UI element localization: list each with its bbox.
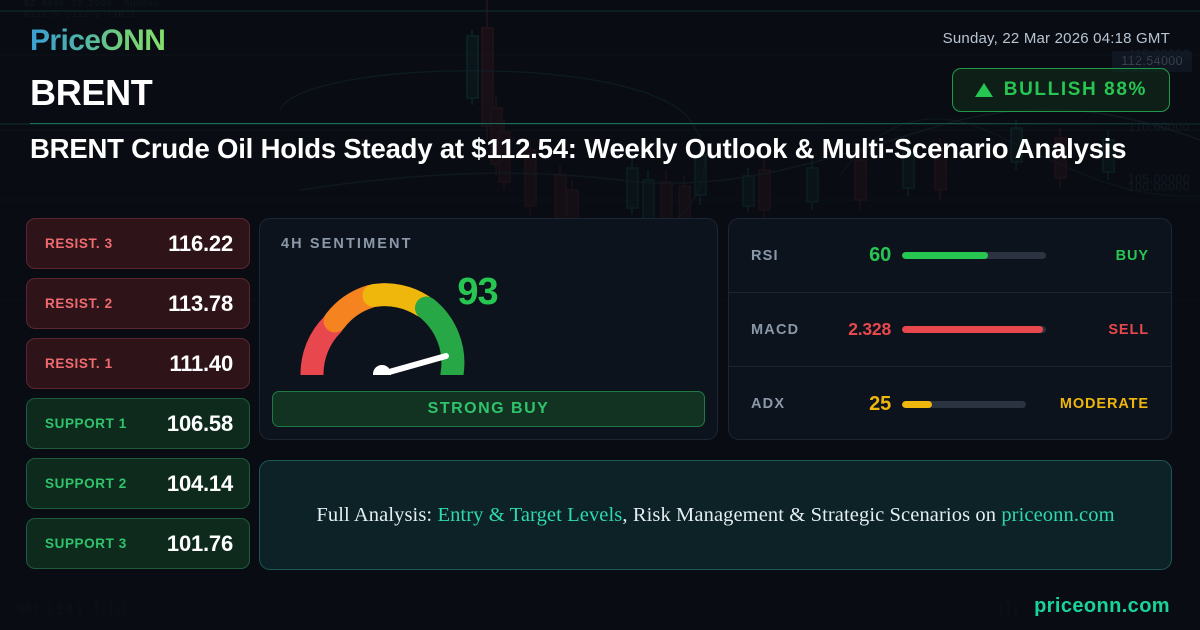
footer-brand: priceonn.com xyxy=(1034,595,1170,618)
gauge-arc-green xyxy=(427,308,453,374)
level-label: RESIST. 2 xyxy=(45,296,113,311)
level-row-support-2: SUPPORT 2 104.14 xyxy=(26,458,250,509)
header-divider xyxy=(30,123,1170,124)
level-value: 111.40 xyxy=(169,351,233,377)
indicator-signal: MODERATE xyxy=(1037,396,1149,412)
indicator-track xyxy=(902,252,1046,259)
indicator-signal: SELL xyxy=(1057,322,1149,338)
indicator-name: ADX xyxy=(751,396,829,412)
sentiment-panel: 4H SENTIMENT 93 STRONG BUY xyxy=(259,218,718,440)
indicator-row-macd: MACD 2.328 SELL xyxy=(729,293,1171,367)
level-value: 104.14 xyxy=(167,471,233,497)
cta-banner[interactable]: Full Analysis: Entry & Target Levels, Ri… xyxy=(259,460,1172,570)
indicator-name: RSI xyxy=(751,248,829,264)
timestamp: Sunday, 22 Mar 2026 04:18 GMT xyxy=(943,30,1170,47)
status-badge-label: BULLISH 88% xyxy=(1004,79,1147,101)
level-row-resist-2: RESIST. 2 113.78 xyxy=(26,278,250,329)
sentiment-title: 4H SENTIMENT xyxy=(281,236,413,252)
indicator-fill xyxy=(902,326,1043,333)
indicator-name: MACD xyxy=(751,322,829,338)
cta-text: Full Analysis: Entry & Target Levels, Ri… xyxy=(316,504,1114,527)
triangle-up-icon xyxy=(975,83,993,97)
gauge-needle xyxy=(373,356,446,375)
indicator-row-rsi: RSI 60 BUY xyxy=(729,219,1171,293)
cta-link-website[interactable]: priceonn.com xyxy=(1001,504,1114,526)
headline: BRENT Crude Oil Holds Steady at $112.54:… xyxy=(30,130,1170,167)
indicator-row-adx: ADX 25 MODERATE xyxy=(729,367,1171,441)
level-value: 101.76 xyxy=(167,531,233,557)
status-badge: BULLISH 88% xyxy=(952,68,1170,112)
level-value: 106.58 xyxy=(167,411,233,437)
levels-list: RESIST. 3 116.22 RESIST. 2 113.78 RESIST… xyxy=(26,218,250,578)
level-label: SUPPORT 2 xyxy=(45,476,127,491)
page-title: BRENT xyxy=(30,72,153,114)
indicator-value: 60 xyxy=(829,244,891,267)
indicator-value: 25 xyxy=(829,393,891,416)
level-value: 113.78 xyxy=(168,291,233,317)
gauge-arc-red xyxy=(312,325,333,375)
level-label: RESIST. 1 xyxy=(45,356,113,371)
indicators-panel: RSI 60 BUY MACD 2.328 SELL ADX 25 MODERA… xyxy=(728,218,1172,440)
level-label: SUPPORT 3 xyxy=(45,536,127,551)
indicator-signal: BUY xyxy=(1057,248,1149,264)
indicator-fill xyxy=(902,252,988,259)
cta-link-entry-levels[interactable]: Entry & Target Levels xyxy=(437,504,622,526)
sentiment-score: 93 xyxy=(260,271,717,314)
cta-prefix: Full Analysis: xyxy=(316,504,437,526)
indicator-value: 2.328 xyxy=(829,319,891,340)
sentiment-verdict: STRONG BUY xyxy=(272,391,705,427)
level-value: 116.22 xyxy=(168,231,233,257)
level-label: RESIST. 3 xyxy=(45,236,113,251)
brand-logo: PriceONN xyxy=(30,24,165,58)
level-row-support-3: SUPPORT 3 101.76 xyxy=(26,518,250,569)
indicator-track xyxy=(902,326,1046,333)
indicator-fill xyxy=(902,401,932,408)
level-row-resist-3: RESIST. 3 116.22 xyxy=(26,218,250,269)
indicator-track xyxy=(902,401,1026,408)
cta-middle: , Risk Management & Strategic Scenarios … xyxy=(622,504,1001,526)
level-label: SUPPORT 1 xyxy=(45,416,127,431)
level-row-support-1: SUPPORT 1 106.58 xyxy=(26,398,250,449)
level-row-resist-1: RESIST. 1 111.40 xyxy=(26,338,250,389)
